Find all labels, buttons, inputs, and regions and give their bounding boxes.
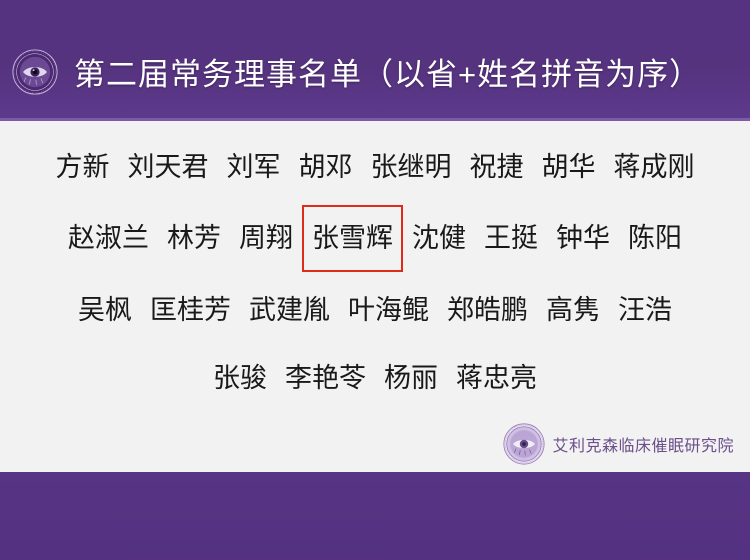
member-name: 张继明 (362, 154, 461, 181)
member-name: 蒋成刚 (605, 154, 704, 181)
member-name: 陈阳 (619, 225, 691, 252)
member-name: 沈健 (403, 225, 475, 252)
member-name: 周翔 (230, 225, 302, 252)
member-name: 叶海鲲 (339, 297, 438, 324)
member-name: 张骏 (204, 365, 276, 392)
member-name: 汪浩 (609, 297, 681, 324)
member-name: 武建胤 (240, 297, 339, 324)
member-name: 王挺 (475, 225, 547, 252)
member-name: 赵淑兰 (59, 225, 158, 252)
member-name: 刘天君 (119, 154, 218, 181)
member-name: 胡华 (533, 154, 605, 181)
ericksonian-eye-logo-icon (12, 49, 58, 95)
name-row: 方新刘天君刘军胡邓张继明祝捷胡华蒋成刚 (0, 154, 750, 181)
member-name: 祝捷 (461, 154, 533, 181)
page-title: 第二届常务理事名单（以省+姓名拼音为序） (74, 49, 701, 94)
name-row: 赵淑兰林芳周翔张雪辉沈健王挺钟华陈阳 (0, 225, 750, 252)
footer-band (0, 472, 750, 560)
member-name: 匡桂芳 (141, 297, 240, 324)
member-name: 高隽 (537, 297, 609, 324)
member-name: 郑皓鹏 (438, 297, 537, 324)
name-row: 吴枫匡桂芳武建胤叶海鲲郑皓鹏高隽汪浩 (0, 297, 750, 324)
watermark: 艾利克森临床催眠研究院 (503, 423, 734, 465)
council-member-list: 方新刘天君刘军胡邓张继明祝捷胡华蒋成刚 赵淑兰林芳周翔张雪辉沈健王挺钟华陈阳 吴… (0, 121, 750, 472)
member-name: 杨丽 (375, 365, 447, 392)
ericksonian-eye-logo-icon (503, 423, 545, 465)
member-name: 刘军 (218, 154, 290, 181)
member-name: 林芳 (158, 225, 230, 252)
member-name: 钟华 (547, 225, 619, 252)
member-name: 蒋忠亮 (447, 365, 546, 392)
name-row: 张骏李艳苓杨丽蒋忠亮 (0, 365, 750, 392)
member-name-highlighted: 张雪辉 (302, 225, 403, 252)
member-name: 李艳苓 (276, 365, 375, 392)
watermark-label: 艾利克森临床催眠研究院 (552, 432, 734, 456)
header: 第二届常务理事名单（以省+姓名拼音为序） (0, 0, 750, 121)
member-name: 吴枫 (69, 297, 141, 324)
member-name: 胡邓 (290, 154, 362, 181)
slide: 第二届常务理事名单（以省+姓名拼音为序） 方新刘天君刘军胡邓张继明祝捷胡华蒋成刚… (0, 0, 750, 560)
member-name: 方新 (47, 154, 119, 181)
